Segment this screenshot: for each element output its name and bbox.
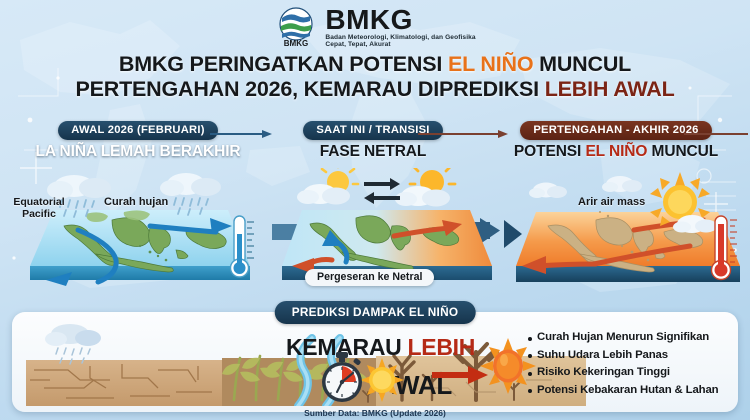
eq-line1: Equatorial	[13, 196, 64, 208]
header-connectors	[0, 120, 750, 170]
title-1a: BMKG PERINGATKAN POTENSI	[119, 52, 448, 76]
label-curah-hujan: Curah hujan	[104, 196, 168, 208]
red-arrow-icon	[432, 366, 488, 384]
rain-cloud-small-icon	[45, 324, 101, 364]
label-equatorial-pacific: Equatorial Pacific	[2, 196, 76, 220]
impact-text: Risiko Kekeringan Tinggi	[537, 366, 670, 379]
headline-kemarau: KEMARAU LEBIH	[286, 334, 475, 361]
source-note: Sumber Data: BMKG (Update 2026)	[0, 408, 750, 418]
exchange-arrows-icon	[364, 178, 400, 204]
eq-line2: Pacific	[22, 208, 56, 220]
bullet-dot-icon	[528, 389, 532, 393]
column-headers: AWAL 2026 (FEBRUARI) LA NIÑA LEMAH BERAK…	[0, 120, 750, 170]
badge-prediksi-dampak: PREDIKSI DAMPAK EL NIÑO	[275, 301, 476, 324]
title-lebihawal: LEBIH AWAL	[545, 77, 675, 101]
list-item: Curah Hujan Menurun Signifikan	[528, 331, 744, 344]
sun-cloud-icon-right	[395, 168, 455, 207]
stopwatch-icon	[318, 352, 366, 404]
list-item: Suhu Udara Lebih Panas	[528, 349, 744, 362]
thermometer-cold-icon	[231, 216, 255, 277]
list-item: Potensi Kebakaran Hutan & Lahan	[528, 384, 744, 397]
impact-text: Suhu Udara Lebih Panas	[537, 349, 668, 362]
title-2a: PERTENGAHAN 2026, KEMARAU DIPREDIKSI	[75, 77, 544, 101]
scene-la-nina	[0, 168, 268, 300]
sun-cloud-icon-left	[297, 168, 358, 205]
list-item: Risiko Kekeringan Tinggi	[528, 366, 744, 379]
impact-text: Potensi Kebakaran Hutan & Lahan	[537, 384, 718, 397]
sun-icon	[360, 358, 404, 402]
bullet-dot-icon	[528, 354, 532, 358]
impact-list: Curah Hujan Menurun Signifikan Suhu Udar…	[528, 331, 744, 401]
brand-name: BMKG	[325, 6, 475, 34]
title-elnino: EL NIÑO	[448, 52, 533, 76]
label-arid-air-mass: Arir air mass	[578, 196, 645, 208]
scene-el-nino	[504, 168, 750, 300]
page-title: BMKG PERINGATKAN POTENSI EL NIÑO MUNCUL …	[0, 52, 750, 102]
logo-caption: BMKG	[284, 39, 308, 48]
cloud-icon-small-2	[602, 176, 642, 192]
bmkg-logo-icon: BMKG	[274, 6, 318, 48]
cloud-icon-small-1	[529, 183, 567, 199]
headline-lebih: LEBIH	[408, 334, 476, 360]
title-line-1: BMKG PERINGATKAN POTENSI EL NIÑO MUNCUL	[0, 52, 750, 77]
bullet-dot-icon	[528, 372, 532, 376]
impact-badge-wrap: PREDIKSI DAMPAK EL NIÑO	[275, 301, 476, 324]
header: BMKG BMKG Badan Meteorologi, Klimatologi…	[0, 4, 750, 50]
rain-cloud-icon-2	[160, 173, 221, 215]
title-line-2: PERTENGAHAN 2026, KEMARAU DIPREDIKSI LEB…	[0, 77, 750, 102]
title-1b: MUNCUL	[533, 52, 631, 76]
bullet-dot-icon	[528, 337, 532, 341]
impact-text: Curah Hujan Menurun Signifikan	[537, 331, 709, 344]
label-pergeseran-netral: Pergeseran ke Netral	[305, 269, 434, 286]
brand-tagline-2: Cepat, Tepat, Akurat	[325, 42, 475, 49]
